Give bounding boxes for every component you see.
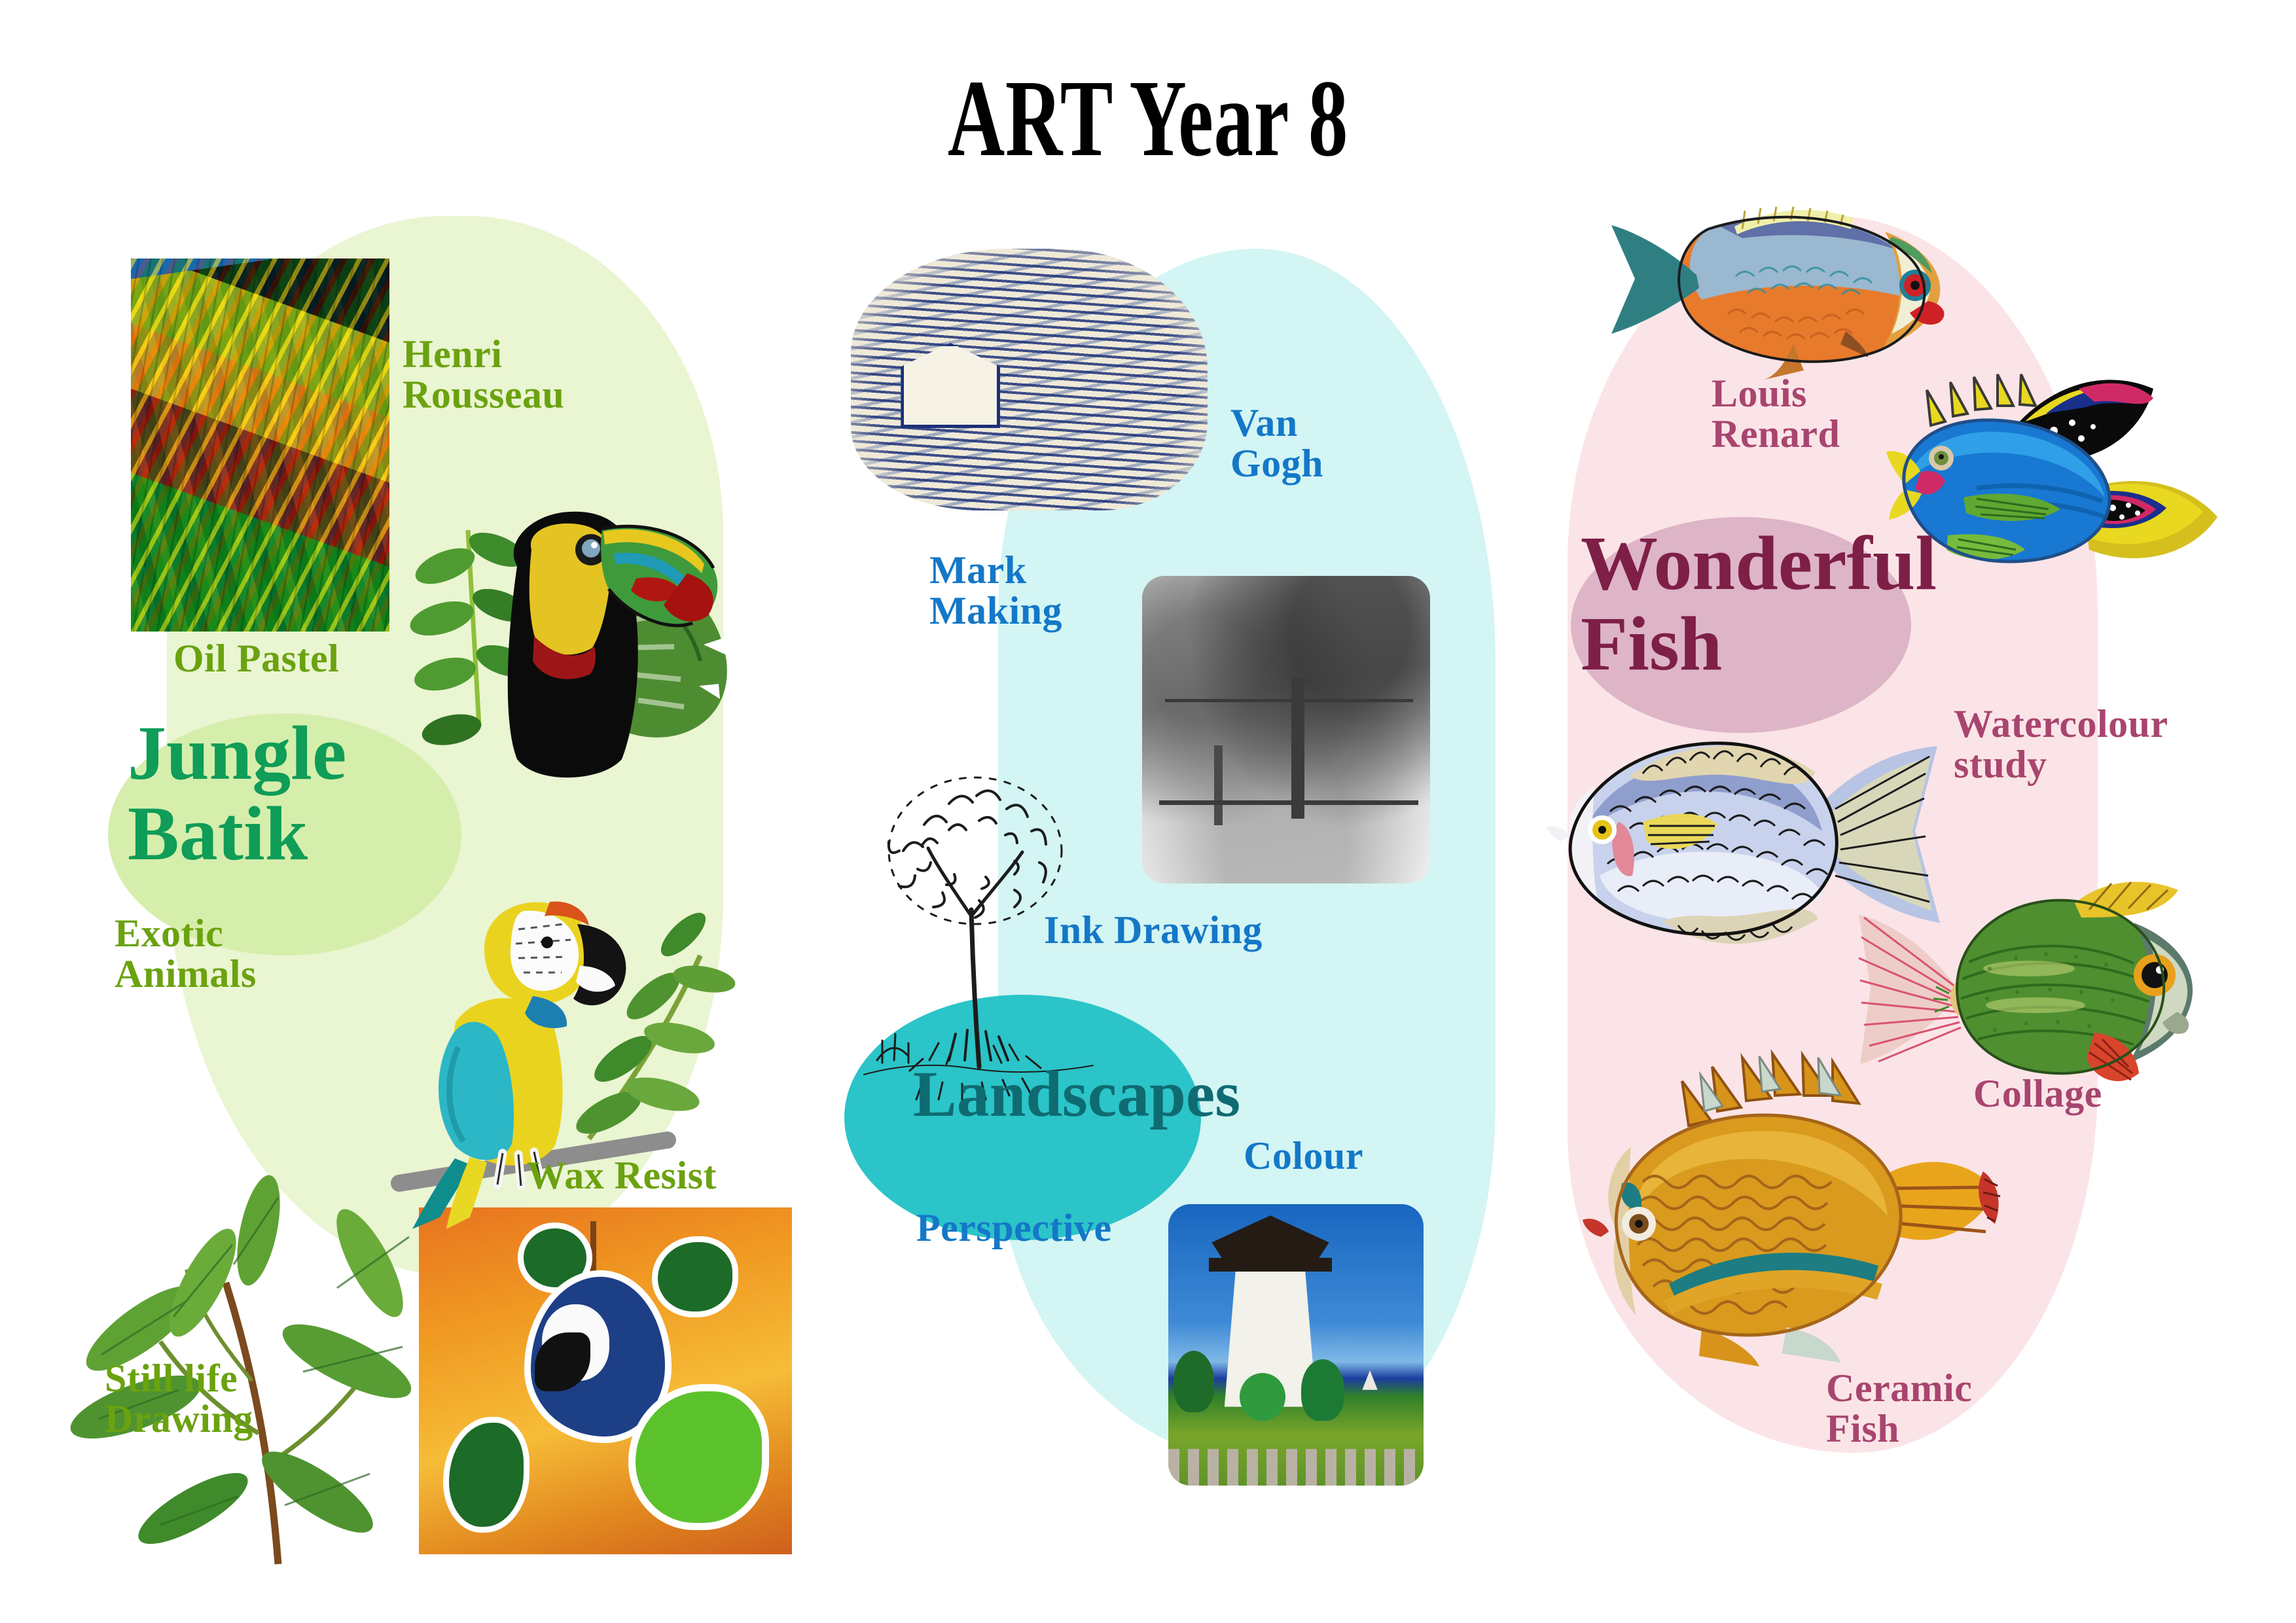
artwork-lighthouse-painting: [1168, 1204, 1424, 1486]
artwork-toucan-painting: [406, 452, 746, 805]
label-wonderful-fish: Wonderful Fish: [1581, 524, 1937, 684]
label-collage: Collage: [1973, 1073, 2102, 1114]
label-colour: Colour: [1244, 1135, 1363, 1176]
poster-canvas: ART Year 8: [0, 0, 2296, 1623]
label-still-life-drawing: Still life Drawing: [105, 1358, 253, 1440]
label-perspective: Perspective: [916, 1207, 1112, 1248]
label-oil-pastel: Oil Pastel: [173, 638, 339, 679]
artwork-oil-pastel-leaves: [131, 259, 389, 632]
label-jungle-batik: Jungle Batik: [128, 713, 346, 874]
label-van-gogh: Van Gogh: [1230, 402, 1323, 484]
label-henri-rousseau: Henri Rousseau: [403, 334, 564, 416]
label-wax-resist: Wax Resist: [527, 1155, 717, 1196]
page-title: ART Year 8: [321, 56, 1975, 182]
label-louis-renard: Louis Renard: [1712, 373, 1840, 455]
label-exotic-animals: Exotic Animals: [115, 913, 257, 995]
artwork-ceramic-glazed-fish: [1571, 1027, 2003, 1368]
artwork-ink-wash-bridge: [1142, 576, 1430, 883]
label-ceramic-fish: Ceramic Fish: [1826, 1368, 1972, 1450]
label-landscapes: Landscapes: [913, 1060, 1240, 1128]
label-watercolour-study: Watercolour study: [1954, 704, 2168, 785]
label-ink-drawing: Ink Drawing: [1044, 910, 1263, 950]
label-mark-making: Mark Making: [929, 550, 1062, 632]
artwork-van-gogh-pen-landscape: [851, 249, 1208, 510]
